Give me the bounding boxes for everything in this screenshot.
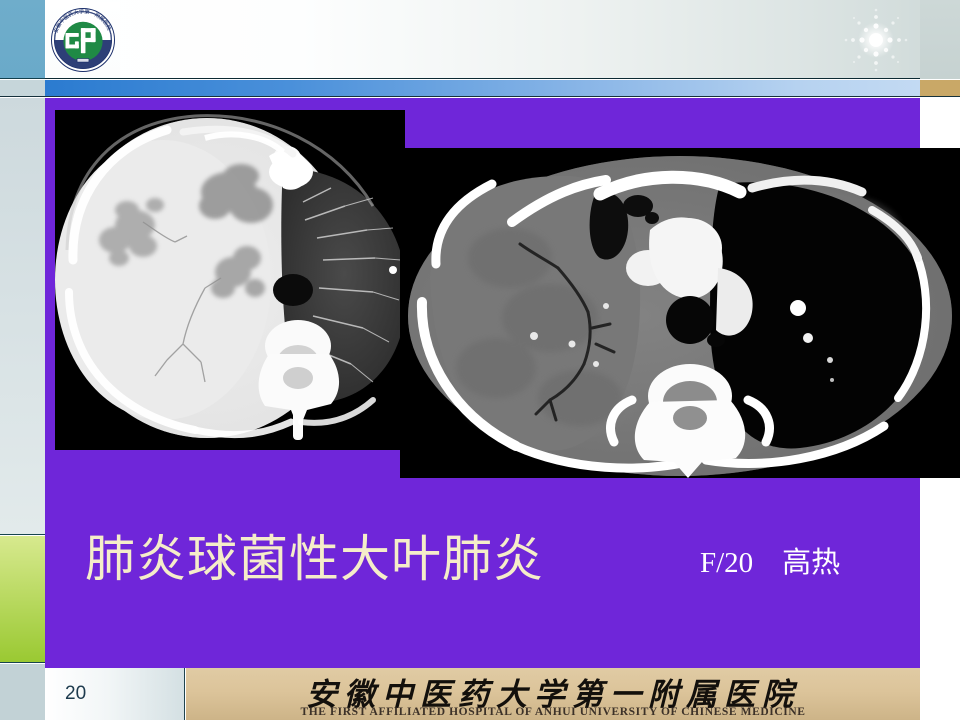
chest-ct-mediastinal-window-image[interactable] [400, 148, 960, 478]
sidebar-left-segment-lightgray [0, 98, 45, 535]
institution-name-en: THE FIRST AFFILIATED HOSPITAL OF ANHUI U… [300, 706, 805, 718]
header-accent-bar [45, 80, 920, 97]
slide-caption-sub: F/20 高热 [700, 545, 840, 581]
slide-header [45, 0, 960, 79]
sidebar-left [0, 0, 45, 720]
sidebar-left-segment-pale [0, 80, 45, 97]
page-number-text: 20 [65, 683, 86, 705]
footer-institution-banner: 安徽中医药大学第一附属医院 THE FIRST AFFILIATED HOSPI… [186, 668, 920, 720]
slide-page-number: 20 [45, 668, 185, 720]
sidebar-left-segment-teal [0, 0, 45, 79]
sidebar-left-segment-bottomgray [0, 664, 45, 720]
presentation-slide: 安徽中医药大学第一附属医院 [0, 0, 960, 720]
hospital-logo-icon: 安徽中医药大学第一附属医院 [46, 2, 120, 78]
slide-caption-main: 肺炎球菌性大叶肺炎 [85, 528, 544, 590]
sidebar-left-segment-green [0, 536, 45, 663]
chest-ct-lung-window-image[interactable] [55, 110, 405, 450]
